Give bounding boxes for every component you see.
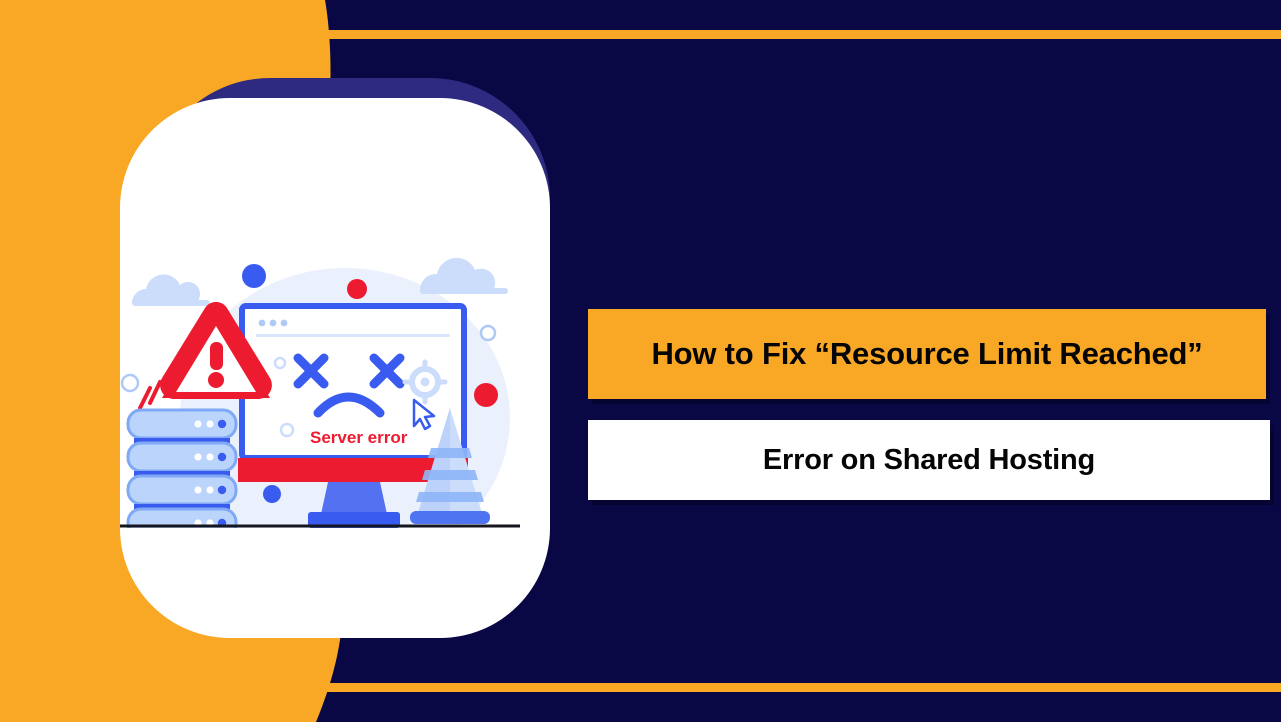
headline-secondary-box: Error on Shared Hosting: [588, 420, 1270, 500]
decor-dot-blue-2: [263, 485, 281, 503]
bottom-divider-line: [300, 683, 1281, 692]
server-rack: [128, 410, 236, 528]
decor-ring-2: [122, 375, 138, 391]
decor-dot-red-2: [474, 383, 498, 407]
decor-ring-1: [481, 326, 495, 340]
headline-secondary-text: Error on Shared Hosting: [763, 444, 1095, 477]
top-divider-line: [300, 30, 1281, 39]
server-error-illustration: Server error: [120, 258, 550, 528]
impact-lines: [140, 382, 160, 408]
screen-error-label: Server error: [310, 428, 408, 447]
headline-primary-box: How to Fix “Resource Limit Reached”: [588, 309, 1266, 399]
headline-primary-text: How to Fix “Resource Limit Reached”: [651, 336, 1202, 372]
banner-canvas: Server error: [0, 0, 1281, 722]
illustration-card: Server error: [120, 98, 550, 638]
decor-dot-blue: [242, 264, 266, 288]
decor-dot-red: [347, 279, 367, 299]
